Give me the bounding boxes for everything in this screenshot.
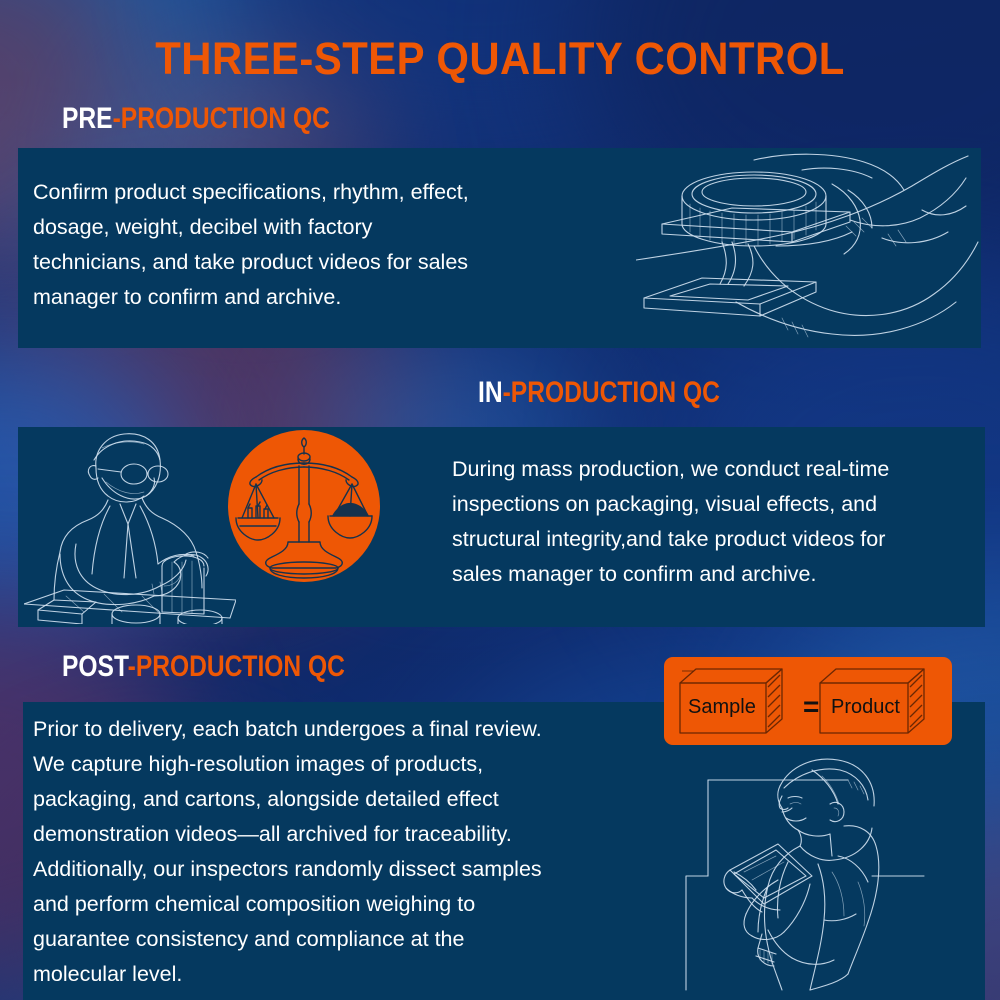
step-title-in-production-white: IN — [478, 376, 503, 409]
sample-equals-product-badge: Sample = Product — [664, 657, 952, 745]
step-body-in-production: During mass production, we conduct real-… — [452, 452, 992, 592]
step-title-post-production-white: POST — [62, 650, 128, 683]
step-title-pre-production-separator: - — [113, 102, 121, 135]
step-title-pre-production-white: PRE — [62, 102, 113, 135]
man-holding-tablet-icon — [672, 752, 982, 992]
page-title: THREE-STEP QUALITY CONTROL — [35, 36, 965, 81]
inspector-weighing-products-icon — [24, 428, 236, 624]
balance-scale-badge — [228, 430, 380, 582]
step-title-in-production-separator: - — [503, 376, 511, 409]
equals-sign: = — [803, 693, 819, 721]
step-body-post-production: Prior to delivery, each batch undergoes … — [33, 712, 663, 992]
hands-inspecting-device-icon — [636, 150, 982, 346]
infographic-poster: THREE-STEP QUALITY CONTROL PRE-PRODUCTIO… — [0, 0, 1000, 1000]
step-title-pre-production: PRE-PRODUCTION QC — [62, 104, 330, 134]
step-title-post-production: POST-PRODUCTION QC — [62, 652, 345, 682]
step-title-in-production: IN-PRODUCTION QC — [478, 378, 720, 408]
sample-box-label: Sample — [688, 697, 756, 717]
step-title-post-production-orange: PRODUCTION QC — [136, 650, 345, 683]
step-body-pre-production: Confirm product specifications, rhythm, … — [33, 175, 613, 315]
step-title-in-production-orange: PRODUCTION QC — [511, 376, 720, 409]
step-title-post-production-separator: - — [128, 650, 136, 683]
step-title-pre-production-orange: PRODUCTION QC — [121, 102, 330, 135]
product-box-label: Product — [831, 697, 900, 717]
